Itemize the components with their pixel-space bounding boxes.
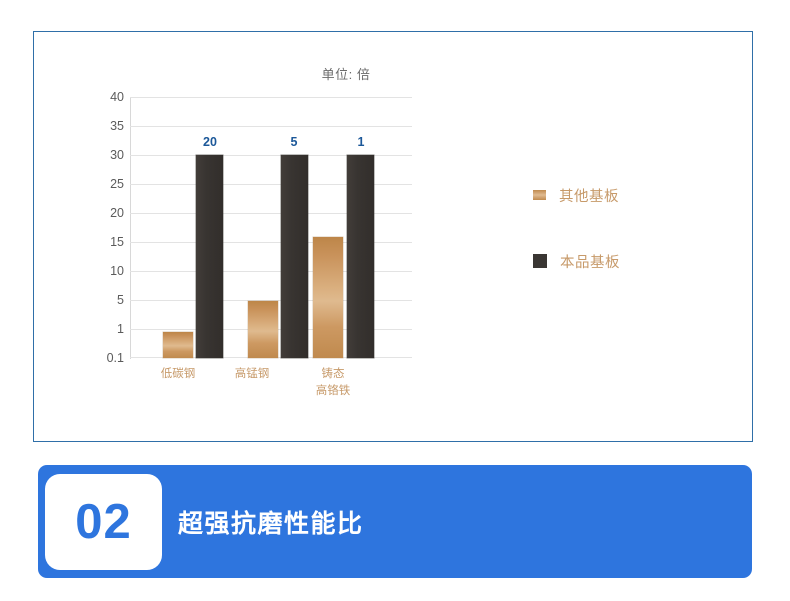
- legend-item-our-substrate: 本品基板: [533, 251, 703, 271]
- bar-other-substrate: [248, 301, 278, 358]
- y-tick-label: 5: [78, 293, 124, 307]
- gridline: [130, 97, 412, 98]
- x-axis-category-line: 高锰钢: [207, 366, 297, 383]
- y-tick-label: 40: [78, 90, 124, 104]
- x-axis-category-label: 铸态 高铬铁: [288, 366, 378, 400]
- bar-value-label: 5: [274, 135, 314, 149]
- y-tick-label: 35: [78, 119, 124, 133]
- y-tick-label: 30: [78, 148, 124, 162]
- bar-our-substrate: [196, 155, 223, 358]
- legend-label: 其他基板: [559, 185, 619, 206]
- section-number-box: 02: [45, 474, 162, 570]
- x-axis-category-line: 铸态: [288, 366, 378, 383]
- legend-item-other-substrate: 其他基板: [533, 185, 703, 205]
- bar-our-substrate: [347, 155, 374, 358]
- bar-other-substrate: [313, 237, 343, 358]
- y-tick-label: 25: [78, 177, 124, 191]
- slide-canvas: 单位: 倍 40 35 30 25 20 15 10 5 1 0.1: [0, 0, 790, 601]
- y-tick-label: 0.1: [78, 351, 124, 365]
- section-number: 02: [75, 498, 132, 547]
- y-tick-label: 1: [78, 322, 124, 336]
- legend-swatch-icon: [533, 190, 546, 200]
- y-tick-label: 15: [78, 235, 124, 249]
- y-tick-label: 10: [78, 264, 124, 278]
- plot-area: 20 5 1: [130, 97, 412, 358]
- section-banner: 02 超强抗磨性能比: [38, 465, 752, 578]
- chart-unit-label: 单位: 倍: [286, 64, 406, 83]
- legend-label: 本品基板: [560, 251, 620, 272]
- y-axis-tick-labels: 40 35 30 25 20 15 10 5 1 0.1: [76, 97, 124, 358]
- section-title: 超强抗磨性能比: [178, 465, 364, 578]
- y-tick-label: 20: [78, 206, 124, 220]
- bar-our-substrate: [281, 155, 308, 358]
- gridline: [130, 126, 412, 127]
- chart-legend: 其他基板 本品基板: [533, 185, 703, 271]
- bar-other-substrate: [163, 332, 193, 358]
- x-axis-category-line: 高铬铁: [288, 383, 378, 400]
- bar-value-label: 20: [190, 135, 230, 149]
- x-axis-category-label: 高锰钢: [207, 366, 297, 383]
- legend-swatch-icon: [533, 254, 547, 268]
- bar-value-label: 1: [341, 135, 381, 149]
